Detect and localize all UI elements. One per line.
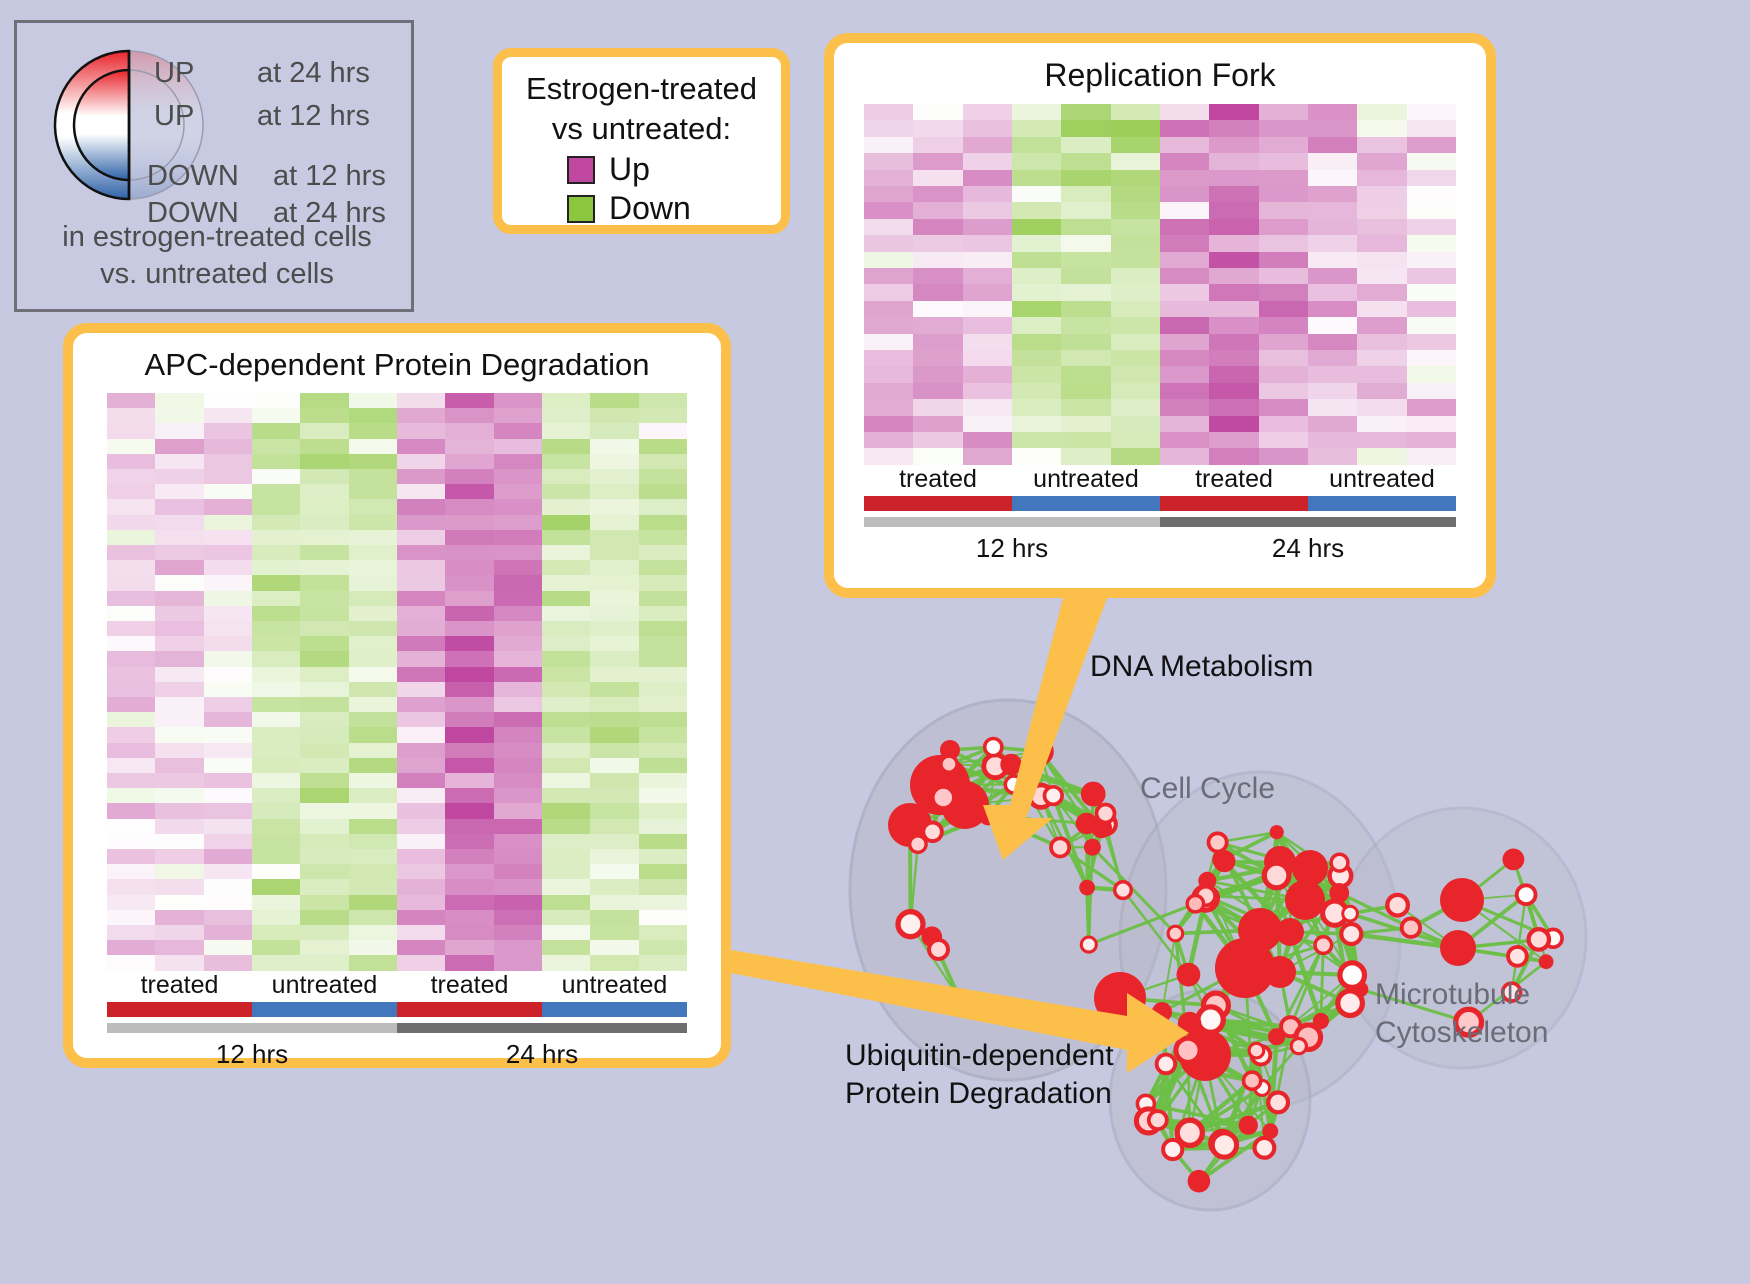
heatmap-cell xyxy=(1111,186,1160,202)
heatmap-cell xyxy=(155,682,203,697)
heatmap-cell xyxy=(542,895,590,910)
heatmap-cell xyxy=(107,393,155,408)
network-node[interactable] xyxy=(1187,896,1203,912)
heatmap-cell xyxy=(349,499,397,514)
heatmap-cell xyxy=(445,682,493,697)
heatmap-cell xyxy=(494,484,542,499)
heatmap-cell xyxy=(590,819,638,834)
heatmap-cell xyxy=(107,879,155,894)
network-node[interactable] xyxy=(1249,1043,1264,1058)
axis-time-bar xyxy=(864,517,1456,527)
heatmap-cell xyxy=(397,940,445,955)
network-node[interactable] xyxy=(1081,937,1096,952)
heatmap-cell xyxy=(1012,416,1061,432)
heatmap-cell xyxy=(1259,219,1308,235)
heatmap-cell xyxy=(542,849,590,864)
heatmap-cell xyxy=(639,454,687,469)
heatmap-cell xyxy=(590,408,638,423)
network-node[interactable] xyxy=(932,786,954,808)
network-node[interactable] xyxy=(929,940,948,959)
axis-condition-bar xyxy=(864,496,1456,511)
network-node[interactable] xyxy=(1212,1133,1236,1157)
panel-apc-title: APC-dependent Protein Degradation xyxy=(73,347,721,383)
heatmap-cell xyxy=(1209,317,1258,333)
heatmap-cell xyxy=(1160,235,1209,251)
heatmap-cell xyxy=(445,530,493,545)
network-node[interactable] xyxy=(1176,1038,1200,1062)
heatmap-apc-degradation xyxy=(107,393,687,971)
heatmap-cell xyxy=(1061,170,1110,186)
network-node[interactable] xyxy=(1539,954,1554,969)
axis-timepoint-0: 12 hrs xyxy=(864,533,1160,564)
network-node[interactable] xyxy=(1076,813,1098,835)
network-node[interactable] xyxy=(1529,929,1549,949)
heatmap-cell xyxy=(300,864,348,879)
heatmap-cell xyxy=(107,727,155,742)
heatmap-cell xyxy=(155,879,203,894)
axis-condition-2: treated xyxy=(397,971,542,1000)
heatmap-cell xyxy=(252,560,300,575)
heatmap-cell xyxy=(107,484,155,499)
heatmap-cell xyxy=(590,439,638,454)
heatmap-cell xyxy=(913,350,962,366)
network-node[interactable] xyxy=(1051,838,1069,856)
heatmap-cell xyxy=(864,153,913,169)
heatmap-cell xyxy=(1209,219,1258,235)
heatmap-cell xyxy=(1012,252,1061,268)
heatmap-cell xyxy=(300,834,348,849)
heatmap-cell xyxy=(397,864,445,879)
heatmap-cell xyxy=(252,773,300,788)
heatmap-cell xyxy=(590,879,638,894)
heatmap-cell xyxy=(1111,383,1160,399)
heatmap-cell xyxy=(494,439,542,454)
heatmap-cell xyxy=(204,636,252,651)
network-node[interactable] xyxy=(1094,972,1146,1024)
heatmap-cell xyxy=(639,591,687,606)
condition-bar-untreated-12 xyxy=(252,1002,397,1017)
heatmap-cell xyxy=(1160,219,1209,235)
heatmap-cell xyxy=(300,697,348,712)
heatmap-cell xyxy=(590,788,638,803)
heatmap-cell xyxy=(155,499,203,514)
heatmap-cell xyxy=(397,469,445,484)
heatmap-cell xyxy=(1209,432,1258,448)
heatmap-cell xyxy=(494,727,542,742)
heatmap-cell xyxy=(252,575,300,590)
network-node[interactable] xyxy=(923,823,942,842)
heatmap-cell xyxy=(542,940,590,955)
network-node[interactable] xyxy=(951,990,968,1007)
heatmap-cell xyxy=(445,727,493,742)
network-node[interactable] xyxy=(1177,963,1201,987)
heatmap-cell xyxy=(252,925,300,940)
heatmap-cell xyxy=(1012,120,1061,136)
heatmap-cell xyxy=(252,469,300,484)
heatmap-cell xyxy=(1259,268,1308,284)
heatmap-cell xyxy=(204,469,252,484)
heatmap-cell xyxy=(1061,399,1110,415)
heatmap-cell xyxy=(204,439,252,454)
heatmap-cell xyxy=(1357,202,1406,218)
heatmap-cell xyxy=(349,758,397,773)
network-node[interactable] xyxy=(1276,918,1304,946)
network-node[interactable] xyxy=(1402,919,1420,937)
heatmap-cell xyxy=(1061,153,1110,169)
heatmap-cell xyxy=(542,682,590,697)
heatmap-cell xyxy=(1357,317,1406,333)
network-node[interactable] xyxy=(1262,1123,1278,1139)
heatmap-cell xyxy=(639,864,687,879)
heatmap-cell xyxy=(590,667,638,682)
heatmap-cell xyxy=(494,940,542,955)
condition-bar-untreated-24 xyxy=(542,1002,687,1017)
heatmap-cell xyxy=(1209,186,1258,202)
heatmap-cell xyxy=(639,545,687,560)
network-node[interactable] xyxy=(1503,849,1525,871)
heatmap-cell xyxy=(639,621,687,636)
heatmap-cell xyxy=(963,104,1012,120)
panel-apc-degradation: APC-dependent Protein Degradation treate… xyxy=(63,323,731,1068)
heatmap-cell xyxy=(445,879,493,894)
network-node[interactable] xyxy=(1331,854,1348,871)
heatmap-cell xyxy=(1407,284,1456,300)
heatmap-cell xyxy=(252,667,300,682)
heatmap-cell xyxy=(349,667,397,682)
heatmap-cell xyxy=(155,530,203,545)
heatmap-cell xyxy=(864,235,913,251)
heatmap-cell xyxy=(155,667,203,682)
heatmap-cell xyxy=(349,636,397,651)
network-node[interactable] xyxy=(1343,906,1358,921)
heatmap-cell xyxy=(864,284,913,300)
network-node[interactable] xyxy=(1097,805,1115,823)
heatmap-cell xyxy=(542,575,590,590)
heatmap-cell xyxy=(300,879,348,894)
heatmap-cell xyxy=(252,712,300,727)
heatmap-cell xyxy=(155,925,203,940)
heatmap-cell xyxy=(1012,170,1061,186)
heatmap-cell xyxy=(1259,416,1308,432)
heatmap-cell xyxy=(1407,334,1456,350)
heatmap-cell xyxy=(1259,399,1308,415)
network-node[interactable] xyxy=(1338,991,1363,1016)
heatmap-cell xyxy=(590,621,638,636)
heatmap-cell xyxy=(204,910,252,925)
heatmap-cell xyxy=(1259,432,1308,448)
heatmap-cell xyxy=(639,515,687,530)
heatmap-cell xyxy=(963,383,1012,399)
heatmap-cell xyxy=(349,575,397,590)
heatmap-cell xyxy=(1209,104,1258,120)
heatmap-cell xyxy=(1061,383,1110,399)
network-node[interactable] xyxy=(1508,947,1527,966)
network-node[interactable] xyxy=(1341,924,1361,944)
heatmap-cell xyxy=(397,636,445,651)
network-node[interactable] xyxy=(1163,1140,1182,1159)
network-node[interactable] xyxy=(1115,882,1132,899)
network-node[interactable] xyxy=(1212,849,1232,869)
heatmap-cell xyxy=(300,560,348,575)
heatmap-cell xyxy=(300,758,348,773)
heatmap-cell xyxy=(204,454,252,469)
heatmap-cell xyxy=(1160,448,1209,464)
network-node[interactable] xyxy=(1209,833,1227,851)
heatmap-cell xyxy=(1308,399,1357,415)
heatmap-cell xyxy=(542,545,590,560)
network-node[interactable] xyxy=(941,756,957,772)
heatmap-cell xyxy=(300,788,348,803)
heatmap-cell xyxy=(1160,350,1209,366)
heatmap-cell xyxy=(1061,448,1110,464)
network-node[interactable] xyxy=(1084,839,1101,856)
heatmap-cell xyxy=(107,788,155,803)
heatmap-cell xyxy=(542,773,590,788)
heatmap-cell xyxy=(1111,153,1160,169)
network-node[interactable] xyxy=(1517,885,1536,904)
heatmap-cell xyxy=(639,393,687,408)
heatmap-cell xyxy=(542,910,590,925)
heatmap-cell xyxy=(864,317,913,333)
heatmap-cell xyxy=(445,499,493,514)
network-node[interactable] xyxy=(1198,1007,1223,1032)
heatmap-cell xyxy=(252,895,300,910)
heatmap-cell xyxy=(542,879,590,894)
heatmap-cell xyxy=(300,545,348,560)
network-node[interactable] xyxy=(1340,963,1365,988)
network-node[interactable] xyxy=(1270,825,1284,839)
heatmap-cell xyxy=(1357,252,1406,268)
heatmap-cell xyxy=(1407,235,1456,251)
heatmap-cell xyxy=(155,758,203,773)
heatmap-cell xyxy=(1357,301,1406,317)
heatmap-cell xyxy=(107,743,155,758)
heatmap-cell xyxy=(252,727,300,742)
heatmap-cell xyxy=(1012,137,1061,153)
heatmap-cell xyxy=(1061,432,1110,448)
heatmap-cell xyxy=(494,864,542,879)
heatmap-cell xyxy=(300,499,348,514)
heatmap-cell xyxy=(590,727,638,742)
network-node[interactable] xyxy=(1152,1002,1172,1022)
heatmap-cell xyxy=(252,864,300,879)
heatmap-cell xyxy=(494,758,542,773)
heatmap-cell xyxy=(639,697,687,712)
heatmap-cell xyxy=(300,773,348,788)
axis-condition-3: untreated xyxy=(1308,465,1456,494)
network-node[interactable] xyxy=(1081,782,1106,807)
heatmap-cell xyxy=(1111,252,1160,268)
network-node[interactable] xyxy=(1178,1012,1202,1036)
legend-circle-key: UP at 24 hrs UP at 12 hrs DOWN at 12 hrs… xyxy=(14,20,414,312)
network-node[interactable] xyxy=(1387,895,1408,916)
heatmap-cell xyxy=(639,834,687,849)
legend-row-label-2: DOWN xyxy=(147,160,239,193)
network-node[interactable] xyxy=(1315,937,1332,954)
heatmap-cell xyxy=(542,393,590,408)
heatmap-cell xyxy=(1012,202,1061,218)
network-node[interactable] xyxy=(1157,1055,1176,1074)
heatmap-cell xyxy=(1259,284,1308,300)
heatmap-cell xyxy=(1160,432,1209,448)
heatmap-cell xyxy=(1357,350,1406,366)
heatmap-cell xyxy=(542,788,590,803)
heatmap-cell xyxy=(1407,120,1456,136)
network-node[interactable] xyxy=(1329,883,1349,903)
heatmap-cell xyxy=(1160,399,1209,415)
heatmap-cell xyxy=(445,393,493,408)
network-node[interactable] xyxy=(1079,880,1095,896)
heatmap-cell xyxy=(1012,334,1061,350)
network-node[interactable] xyxy=(1045,787,1063,805)
network-node[interactable] xyxy=(1028,740,1052,764)
heatmap-cell xyxy=(204,940,252,955)
heatmap-cell xyxy=(204,879,252,894)
heatmap-cell xyxy=(590,743,638,758)
heatmap-cell xyxy=(639,682,687,697)
legend-row-label-1: UP xyxy=(154,100,194,133)
heatmap-cell xyxy=(445,423,493,438)
heatmap-cell xyxy=(155,864,203,879)
heatmap-cell xyxy=(1407,301,1456,317)
heatmap-cell xyxy=(204,560,252,575)
heatmap-cell xyxy=(107,515,155,530)
heatmap-cell xyxy=(445,545,493,560)
network-node[interactable] xyxy=(1188,1170,1211,1193)
heatmap-cell xyxy=(1407,153,1456,169)
heatmap-cell xyxy=(300,819,348,834)
heatmap-cell xyxy=(252,834,300,849)
heatmap-cell xyxy=(1308,235,1357,251)
heatmap-cell xyxy=(913,317,962,333)
heatmap-cell xyxy=(204,682,252,697)
network-node[interactable] xyxy=(1440,878,1484,922)
heatmap-cell xyxy=(1407,104,1456,120)
axis-apc-degradation: treated untreated treated untreated 12 h… xyxy=(107,971,687,1070)
network-node[interactable] xyxy=(1264,956,1296,988)
heatmap-cell xyxy=(349,955,397,970)
network-node[interactable] xyxy=(1291,1039,1306,1054)
heatmap-cell xyxy=(349,423,397,438)
heatmap-cell xyxy=(155,910,203,925)
network-node[interactable] xyxy=(1239,1116,1258,1135)
network-node[interactable] xyxy=(1149,1111,1167,1129)
network-node[interactable] xyxy=(1268,1093,1288,1113)
heatmap-cell xyxy=(349,606,397,621)
heatmap-cell xyxy=(300,423,348,438)
heatmap-cell xyxy=(252,591,300,606)
network-node[interactable] xyxy=(898,912,923,937)
heatmap-cell xyxy=(963,170,1012,186)
heatmap-cell xyxy=(1308,252,1357,268)
axis-timepoint-1: 24 hrs xyxy=(397,1039,687,1070)
heatmap-cell xyxy=(1407,399,1456,415)
condition-bar-treated-24 xyxy=(1160,496,1308,511)
network-node[interactable] xyxy=(1264,863,1289,888)
network-node[interactable] xyxy=(1285,880,1325,920)
network-node[interactable] xyxy=(1168,926,1183,941)
heatmap-cell xyxy=(1357,448,1406,464)
heatmap-cell xyxy=(252,910,300,925)
heatmap-cell xyxy=(107,895,155,910)
heatmap-cell xyxy=(494,469,542,484)
heatmap-cell xyxy=(1308,432,1357,448)
network-node[interactable] xyxy=(1000,754,1022,776)
heatmap-cell xyxy=(204,834,252,849)
heatmap-cell xyxy=(445,788,493,803)
heatmap-cell xyxy=(639,408,687,423)
network-node[interactable] xyxy=(985,739,1002,756)
heatmap-cell xyxy=(349,819,397,834)
heatmap-cell xyxy=(349,910,397,925)
heatmap-cell xyxy=(155,955,203,970)
network-node[interactable] xyxy=(1255,1138,1275,1158)
heatmap-cell xyxy=(1160,252,1209,268)
heatmap-cell xyxy=(349,439,397,454)
heatmap-cell xyxy=(913,383,962,399)
cluster-label-dna-metabolism: DNA Metabolism xyxy=(1090,650,1313,684)
heatmap-cell xyxy=(494,773,542,788)
heatmap-cell xyxy=(155,727,203,742)
heatmap-cell xyxy=(494,788,542,803)
network-node[interactable] xyxy=(1440,930,1476,966)
heatmap-cell xyxy=(963,399,1012,415)
network-node[interactable] xyxy=(1244,1072,1261,1089)
heatmap-cell xyxy=(397,499,445,514)
heatmap-cell xyxy=(494,925,542,940)
heatmap-cell xyxy=(1160,366,1209,382)
heatmap-cell xyxy=(1308,448,1357,464)
heatmap-cell xyxy=(252,940,300,955)
axis-condition-bar xyxy=(107,1002,687,1017)
axis-timepoint-0: 12 hrs xyxy=(107,1039,397,1070)
heatmap-cell xyxy=(1061,120,1110,136)
heatmap-cell xyxy=(1061,268,1110,284)
heatmap-cell xyxy=(445,667,493,682)
heatmap-cell xyxy=(349,803,397,818)
heatmap-cell xyxy=(963,235,1012,251)
heatmap-cell xyxy=(300,849,348,864)
heatmap-cell xyxy=(397,545,445,560)
heatmap-cell xyxy=(963,137,1012,153)
legend-updown-title-line2: vs untreated: xyxy=(502,109,781,149)
heatmap-cell xyxy=(397,454,445,469)
heatmap-cell xyxy=(1061,334,1110,350)
heatmap-cell xyxy=(913,268,962,284)
heatmap-cell xyxy=(107,773,155,788)
heatmap-cell xyxy=(1012,153,1061,169)
heatmap-cell xyxy=(639,940,687,955)
heatmap-cell xyxy=(445,773,493,788)
heatmap-cell xyxy=(397,439,445,454)
heatmap-cell xyxy=(204,925,252,940)
heatmap-cell xyxy=(204,727,252,742)
heatmap-cell xyxy=(445,925,493,940)
network-node[interactable] xyxy=(1005,776,1022,793)
heatmap-cell xyxy=(107,499,155,514)
heatmap-cell xyxy=(494,895,542,910)
heatmap-cell xyxy=(397,591,445,606)
heatmap-cell xyxy=(155,788,203,803)
heatmap-cell xyxy=(913,301,962,317)
heatmap-cell xyxy=(1209,235,1258,251)
network-node[interactable] xyxy=(978,806,998,826)
heatmap-cell xyxy=(913,366,962,382)
legend-item-up-label: Up xyxy=(609,151,650,188)
legend-footer-line1: in estrogen-treated cells xyxy=(17,219,417,256)
down-color-swatch xyxy=(567,195,595,223)
heatmap-cell xyxy=(494,530,542,545)
